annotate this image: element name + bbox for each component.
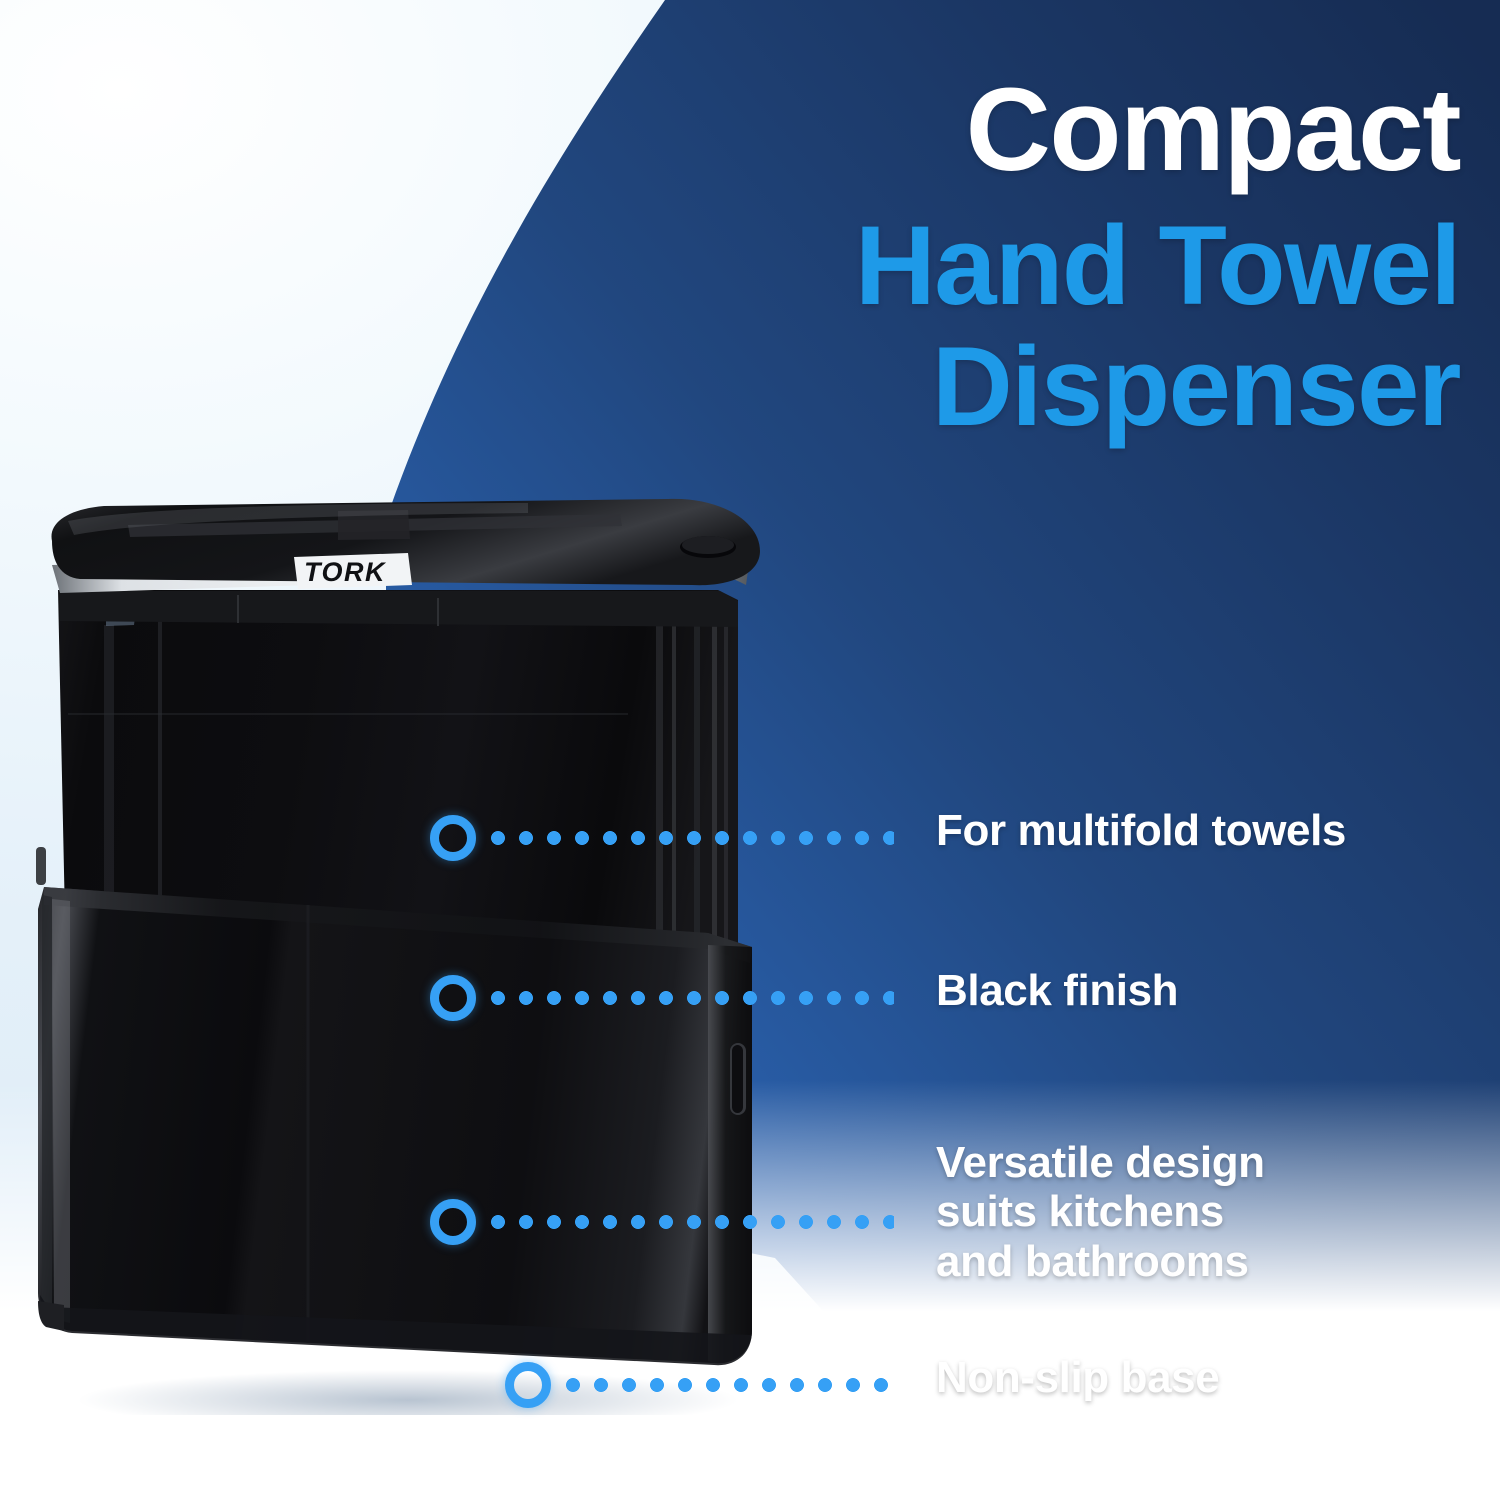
- infographic-canvas: Compact Hand Towel Dispenser: [0, 0, 1500, 1500]
- callout-label-versatile: Versatile design suits kitchens and bath…: [936, 1138, 1496, 1286]
- callout-dotted-line-2: [484, 991, 894, 1005]
- headline-line-1: Compact: [760, 72, 1460, 189]
- headline-line-2: Hand Towel: [760, 211, 1460, 322]
- callout-marker-ring-3: [430, 1199, 476, 1245]
- callout-label-non-slip-base: Non-slip base: [936, 1353, 1476, 1402]
- callout-label-black-finish: Black finish: [936, 966, 1476, 1015]
- headline-line-3: Dispenser: [760, 332, 1460, 443]
- product-image-dispenser: TORK: [8, 495, 808, 1415]
- callout-marker-ring-1: [430, 815, 476, 861]
- svg-text:TORK: TORK: [304, 557, 387, 587]
- callout-dotted-line-4: [559, 1378, 895, 1392]
- headline-block: Compact Hand Towel Dispenser: [760, 72, 1460, 443]
- callout-dotted-line-3: [484, 1215, 894, 1229]
- callout-label-multifold: For multifold towels: [936, 806, 1476, 855]
- callout-marker-ring-2: [430, 975, 476, 1021]
- tork-logo: TORK: [294, 553, 412, 589]
- callout-marker-ring-4: [505, 1362, 551, 1408]
- callout-dotted-line-1: [484, 831, 894, 845]
